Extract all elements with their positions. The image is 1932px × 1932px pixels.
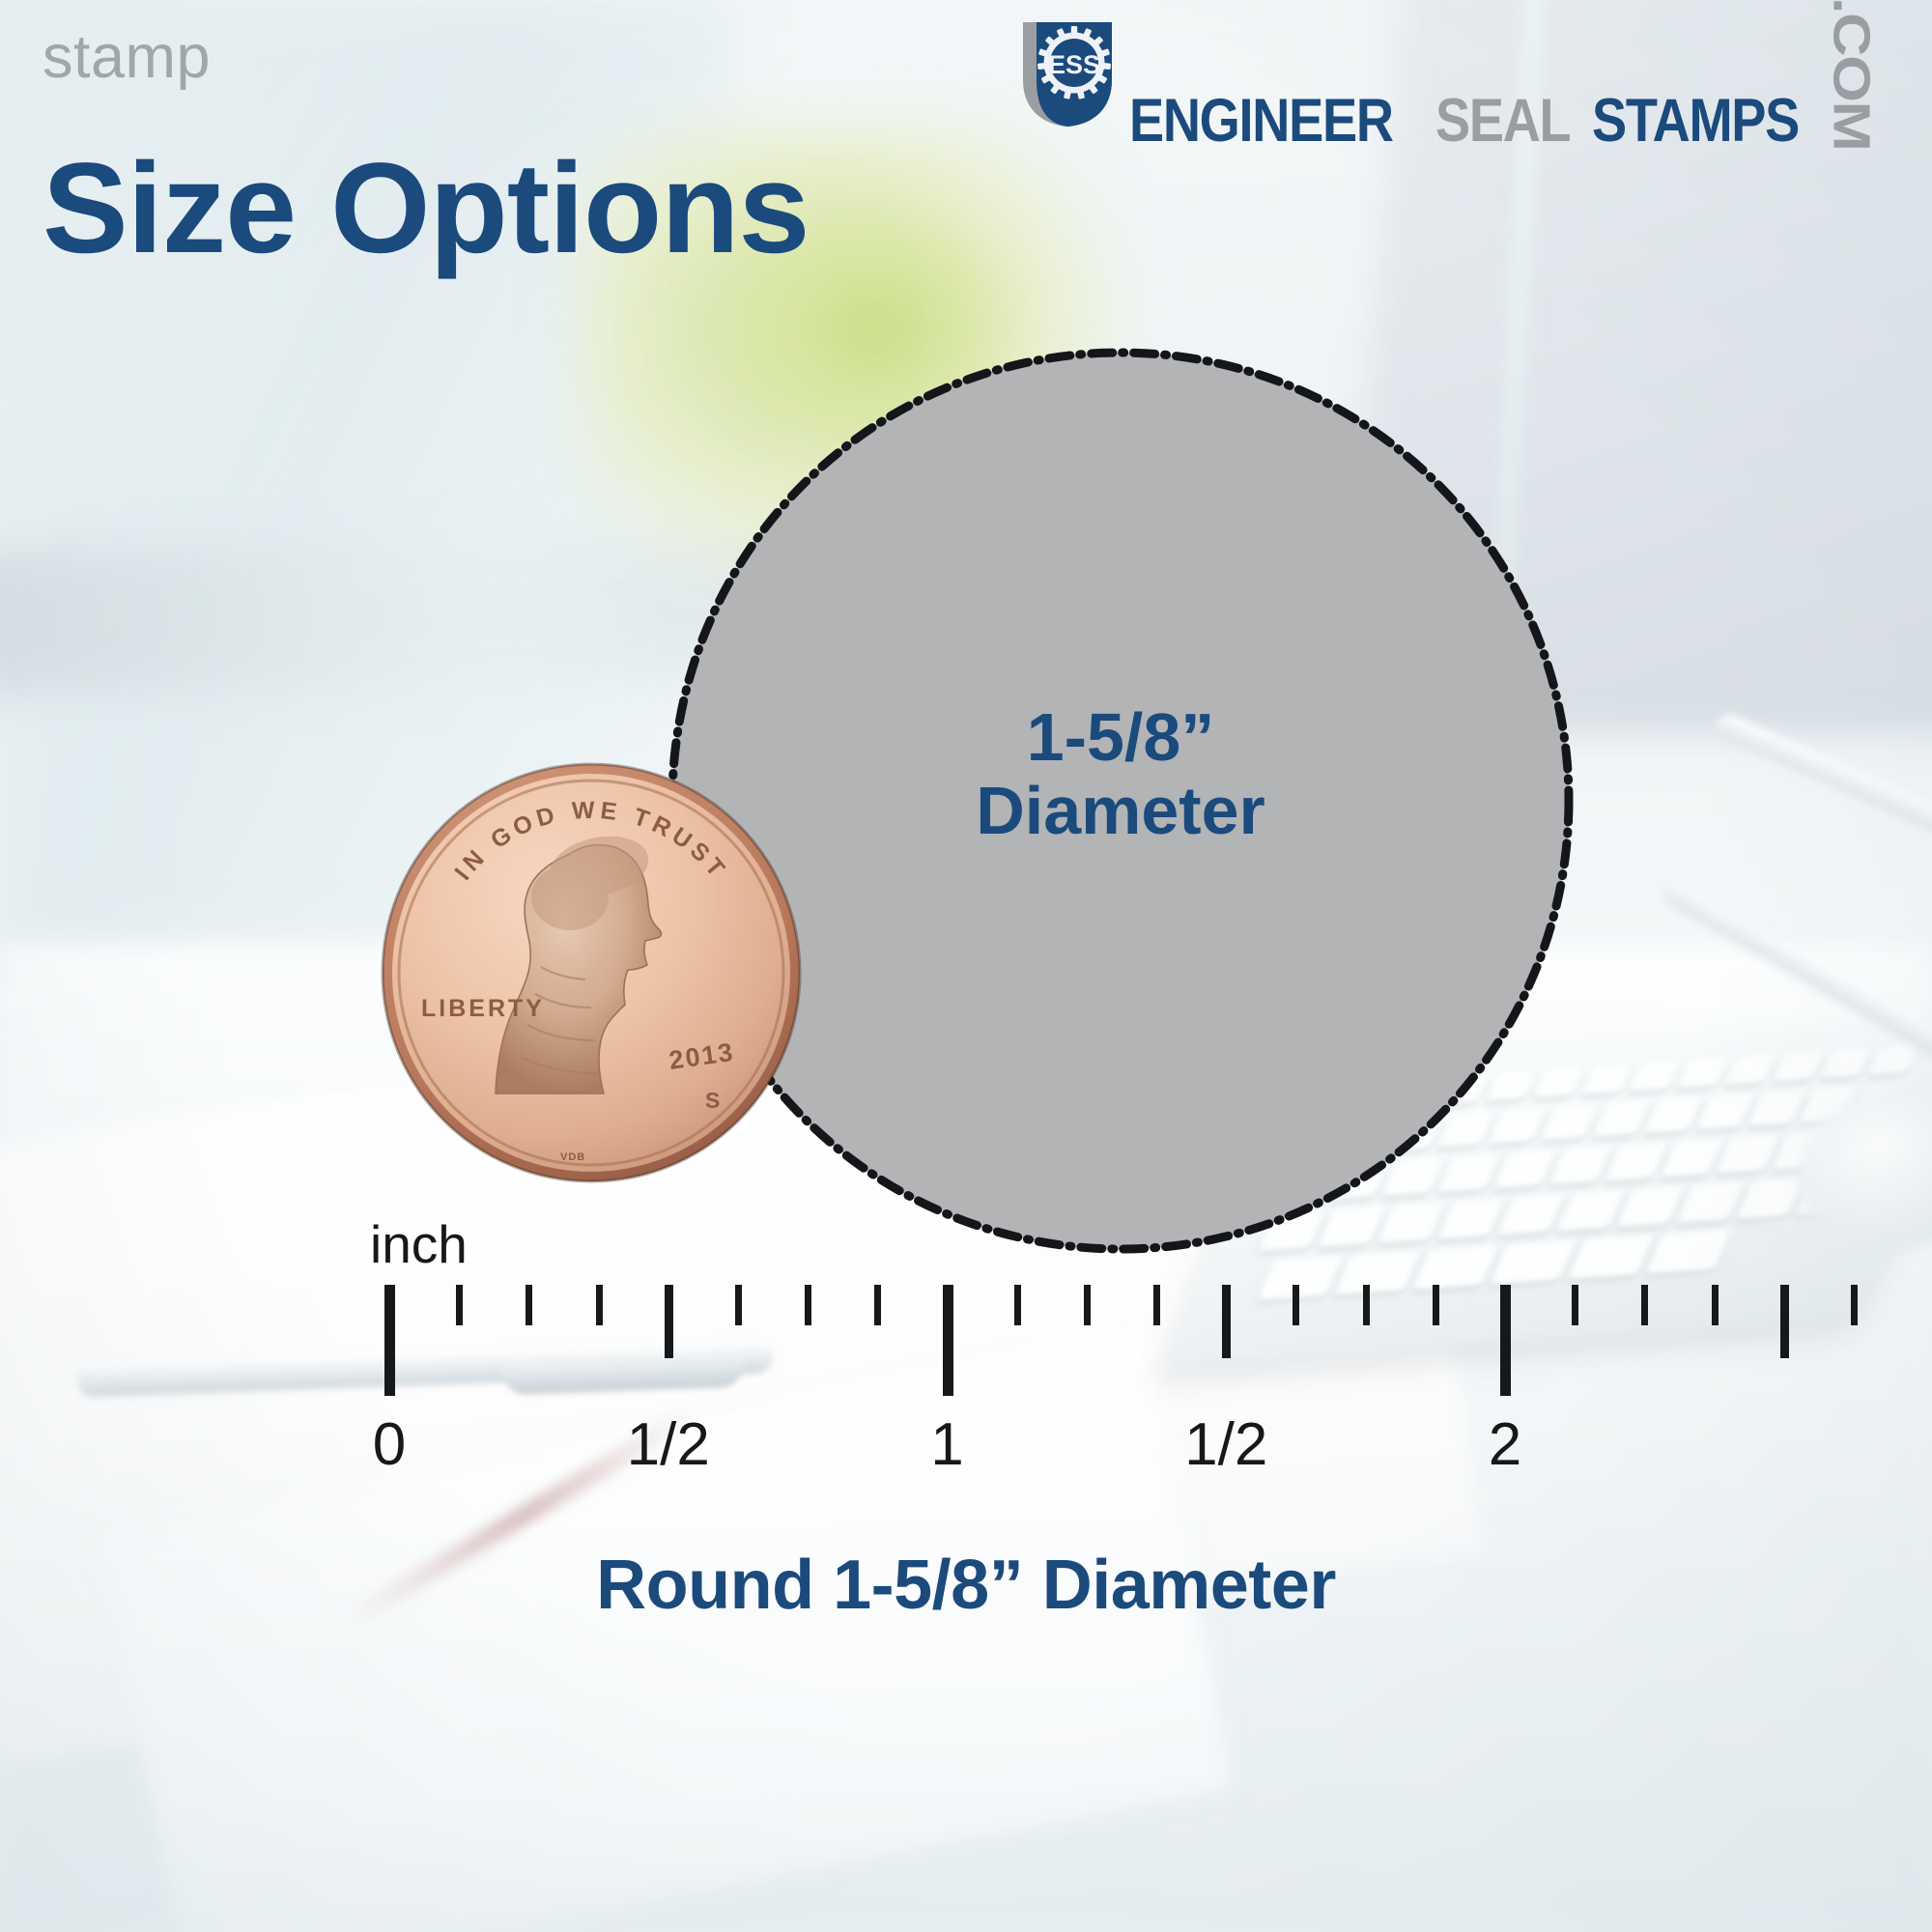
ruler-tick-minor (1641, 1285, 1648, 1325)
coin-mintmark: S (705, 1088, 720, 1113)
ruler-tick-minor (1433, 1285, 1439, 1325)
ruler-tick-major (943, 1285, 953, 1396)
ruler-tick-minor (805, 1285, 811, 1325)
ruler-tick-half (665, 1285, 673, 1358)
size-caption: Round 1-5/8” Diameter (0, 1546, 1932, 1625)
ruler-tick-half (1222, 1285, 1231, 1358)
logo-part-stamps: STAMPS (1592, 91, 1799, 152)
ruler-tick-half (1780, 1285, 1789, 1358)
logo-wordmark: ENGINEER SEAL STAMPS .COM (1129, 0, 1886, 152)
ruler-tick-minor (1153, 1285, 1160, 1325)
brand-word: stamp (43, 27, 211, 88)
ruler-tick-minor (596, 1285, 603, 1325)
ruler-tick-minor (735, 1285, 742, 1325)
inch-ruler: inch 01/211/22 (0, 1227, 1932, 1546)
ruler-tick-minor (1363, 1285, 1370, 1325)
ess-logo[interactable]: ESS ENGINEER SEAL STAMPS .COM (1017, 21, 1886, 128)
ruler-label: 1 (930, 1410, 963, 1479)
ruler-tick-minor (1572, 1285, 1578, 1325)
ruler-label: 1/2 (1184, 1410, 1267, 1479)
ruler-tick-minor (1851, 1285, 1858, 1325)
ruler-tick-minor (874, 1285, 881, 1325)
badge-text: ESS (1048, 50, 1100, 79)
gear-badge-icon: ESS (1017, 20, 1118, 128)
page-title: Size Options (43, 145, 809, 273)
ruler-tick-minor (526, 1285, 532, 1325)
ruler-tick-minor (1084, 1285, 1091, 1325)
ruler-label: 0 (373, 1410, 406, 1479)
ruler-tick-minor (1293, 1285, 1299, 1325)
coin-liberty: LIBERTY (421, 995, 545, 1022)
logo-part-seal: SEAL (1435, 91, 1570, 152)
ruler-tick-minor (1712, 1285, 1719, 1325)
penny-reference-coin: IN GOD WE TRUST LIBERTY 2013 S VDB (381, 762, 803, 1184)
coin-designer-initials: VDB (560, 1151, 585, 1163)
size-options-graphic: stamp Size Options (0, 0, 1932, 1932)
ruler-tick-major (384, 1285, 395, 1396)
ruler-label: 1/2 (627, 1410, 710, 1479)
ruler-unit-label: inch (370, 1213, 468, 1275)
ruler-label: 2 (1489, 1410, 1521, 1479)
ruler-tick-minor (1014, 1285, 1021, 1325)
ruler-tick-major (1500, 1285, 1511, 1396)
ruler-tick-minor (456, 1285, 463, 1325)
logo-part-engineer: ENGINEER (1129, 91, 1393, 152)
logo-part-dotcom: .COM (1825, 0, 1877, 150)
